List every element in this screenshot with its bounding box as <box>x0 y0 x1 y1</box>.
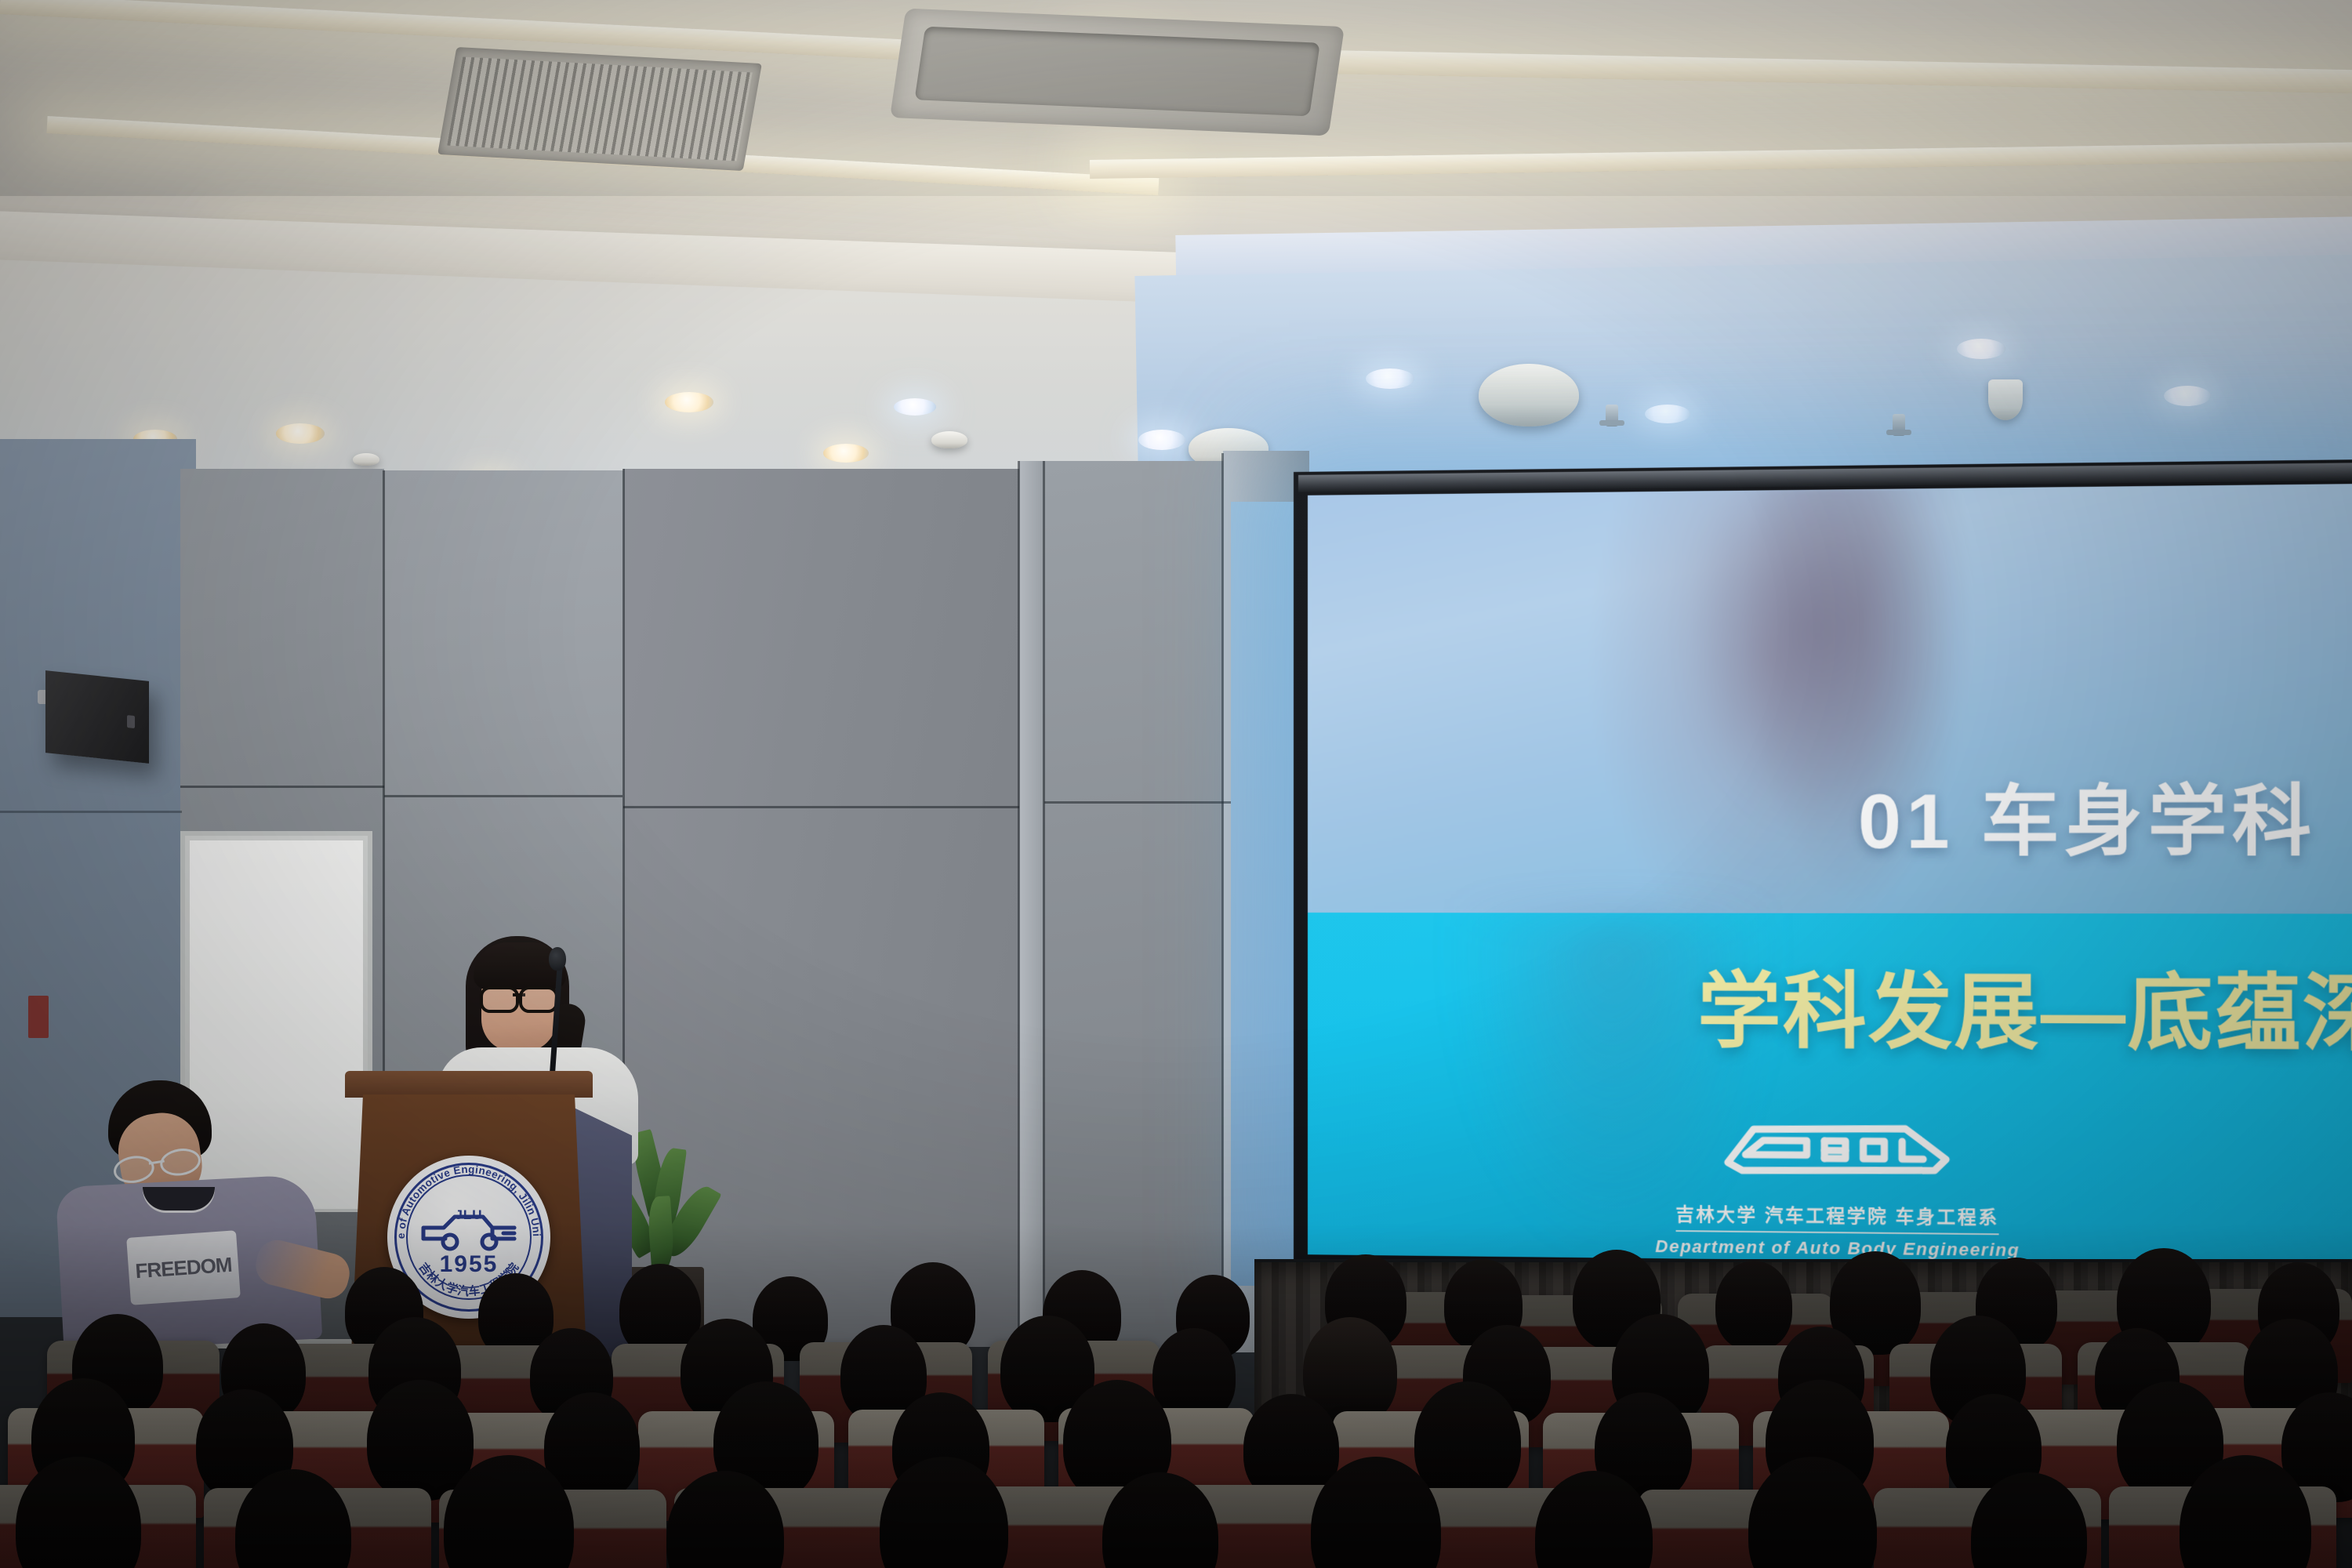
downlight-icon <box>1645 405 1690 423</box>
screen-surface: 01 车身学科 学科发展—底蕴深厚 <box>1308 484 2352 1267</box>
downlight-icon <box>1138 430 1185 450</box>
slide-subtitle: 学科发展—底蕴深厚 <box>1697 944 2352 1068</box>
logo-text-cn: 吉林大学 汽车工程学院 车身工程系 <box>1675 1200 1998 1236</box>
screen-bezel: 01 车身学科 学科发展—底蕴深厚 <box>1294 459 2352 1287</box>
wall-speaker-icon <box>45 670 149 764</box>
door-handle <box>28 996 49 1038</box>
downlight-icon <box>276 423 325 444</box>
audience-area <box>0 1247 2352 1568</box>
department-logo: 吉林大学 汽车工程学院 车身工程系 Department of Auto Bod… <box>1652 1105 2024 1261</box>
downlight-icon <box>2164 386 2211 406</box>
ceiling-dome-camera-icon <box>1479 364 1579 426</box>
smoke-detector-icon <box>1988 379 2023 420</box>
lecture-hall-photo: 01 车身学科 学科发展—底蕴深厚 <box>0 0 2352 1568</box>
panel-seam <box>0 811 182 813</box>
panel-seam <box>1018 461 1020 1351</box>
downlight-icon <box>1366 368 1414 389</box>
ceiling-air-vent-icon <box>437 47 762 171</box>
downlight-icon <box>894 398 936 416</box>
fire-sprinkler-icon <box>1606 405 1618 426</box>
panel-seam <box>1043 461 1045 1351</box>
presenter-glasses-icon <box>480 986 558 1007</box>
wall-panel <box>1019 461 1231 1351</box>
smoke-detector-icon <box>931 431 967 448</box>
panel-seam <box>623 806 1019 808</box>
panel-seam <box>1221 453 1224 1353</box>
podium-top <box>345 1071 593 1098</box>
slide-title: 01 车身学科 <box>1858 758 2317 870</box>
downlight-icon <box>823 444 869 463</box>
led-screen: 01 车身学科 学科发展—底蕴深厚 <box>1294 472 2352 1273</box>
audience-head <box>1414 1381 1521 1502</box>
panel-seam <box>1044 801 1231 804</box>
audience-head <box>1715 1261 1792 1350</box>
downlight-icon <box>1957 339 2005 359</box>
downlight-icon <box>665 392 713 412</box>
panel-seam <box>180 786 384 788</box>
emblem-jlu-text: JLU <box>387 1207 550 1223</box>
panel-seam <box>384 795 622 797</box>
microphone-icon <box>549 947 566 971</box>
jabe-logo-icon <box>1704 1105 1970 1190</box>
wall-panel-edge <box>1019 461 1043 1351</box>
smoke-detector-icon <box>353 453 379 466</box>
ceiling-ac-cassette <box>890 9 1345 136</box>
fire-sprinkler-icon <box>1893 414 1905 436</box>
